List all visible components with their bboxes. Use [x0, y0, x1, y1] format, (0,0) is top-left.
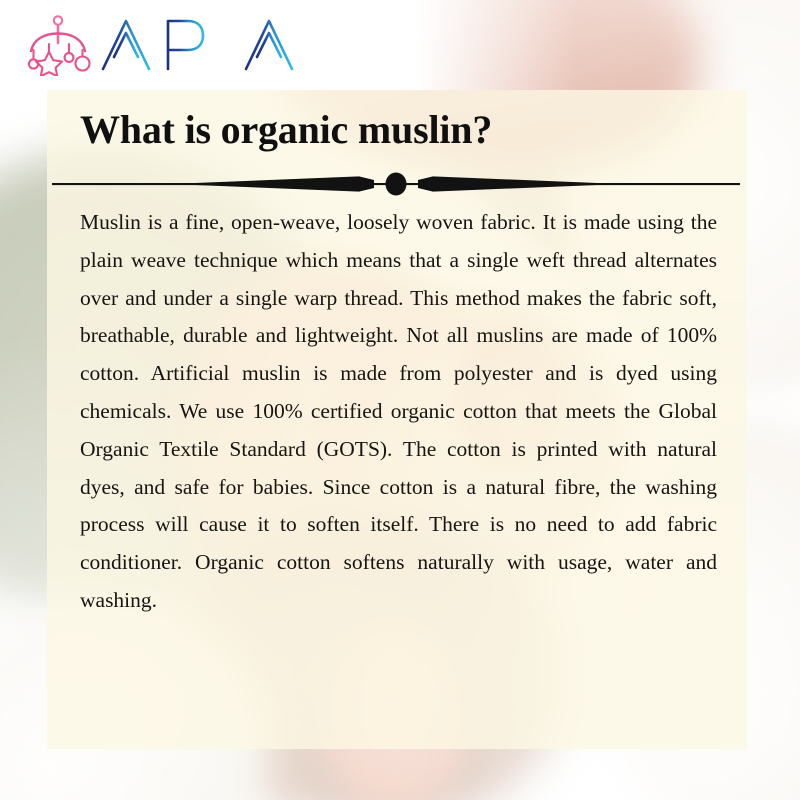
- brand-logo[interactable]: [22, 14, 316, 76]
- ornamental-divider: [52, 172, 740, 196]
- article-body-paragraph: Muslin is a fine, open-weave, loosely wo…: [80, 204, 717, 620]
- content-panel-inner: What is organic muslin? Muslin is a fine…: [47, 90, 747, 749]
- article-body: Muslin is a fine, open-weave, loosely wo…: [80, 204, 717, 620]
- baby-mobile-icon: [22, 14, 94, 76]
- page-title: What is organic muslin?: [80, 108, 720, 153]
- infographic-canvas: What is organic muslin? Muslin is a fine…: [0, 0, 800, 800]
- divider-ornament-icon: [52, 172, 740, 196]
- content-panel: What is organic muslin? Muslin is a fine…: [47, 90, 747, 749]
- aria-wordmark-icon: [100, 17, 316, 73]
